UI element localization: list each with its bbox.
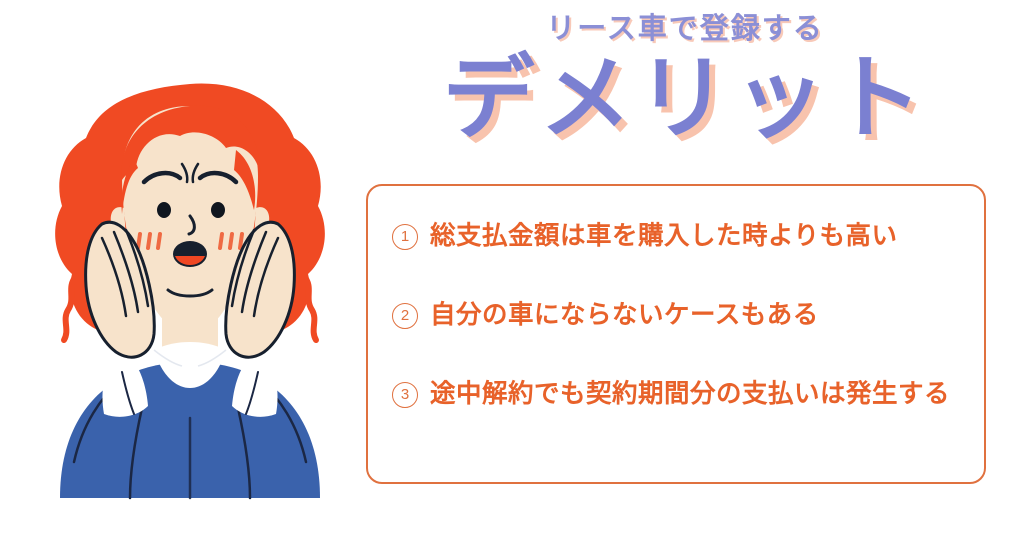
list-number-badge: 2 bbox=[392, 303, 418, 329]
list-item: 1 総支払金額は車を購入した時よりも高い bbox=[392, 220, 974, 253]
list-item-label: 途中解約でも契約期間分の支払いは発生する bbox=[430, 378, 950, 411]
list-number-badge: 3 bbox=[392, 382, 418, 408]
list-number-badge: 1 bbox=[392, 224, 418, 250]
subtitle: リース車で登録する bbox=[360, 12, 1010, 47]
list-item-label: 総支払金額は車を購入した時よりも高い bbox=[430, 220, 898, 253]
right-eye bbox=[211, 202, 225, 218]
worried-woman-illustration bbox=[30, 58, 350, 503]
list-item-label: 自分の車にならないケースもある bbox=[430, 299, 819, 332]
list-item: 3 途中解約でも契約期間分の支払いは発生する bbox=[392, 378, 974, 411]
left-eye bbox=[157, 202, 171, 218]
infographic-canvas: リース車で登録する デメリット 1 総支払金額は車を購入した時よりも高い 2 自… bbox=[0, 0, 1024, 538]
heading-block: リース車で登録する デメリット bbox=[360, 12, 1010, 147]
demerit-list-box: 1 総支払金額は車を購入した時よりも高い 2 自分の車にならないケースもある 3… bbox=[366, 184, 986, 484]
list-item: 2 自分の車にならないケースもある bbox=[392, 299, 974, 332]
demerit-list: 1 総支払金額は車を購入した時よりも高い 2 自分の車にならないケースもある 3… bbox=[392, 212, 974, 462]
page-title: デメリット bbox=[360, 51, 1010, 148]
